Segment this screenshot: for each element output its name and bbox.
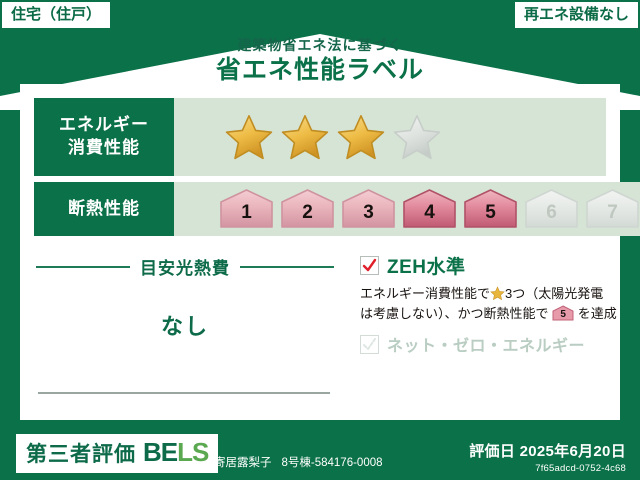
zeh-title-row: ZEH水準 bbox=[350, 252, 620, 279]
insulation-badge-value: 4 bbox=[401, 188, 458, 230]
insulation-badge-5: 5 bbox=[462, 188, 519, 230]
utility-cost-title: 目安光熱費 bbox=[130, 254, 240, 279]
insulation-performance-row: 断熱性能 1234567 bbox=[34, 182, 606, 236]
divider-right bbox=[240, 266, 334, 268]
evaluation-hash: 7f65adcd-0752-4c68 bbox=[469, 463, 626, 474]
star-filled-icon bbox=[336, 113, 386, 161]
insulation-badge-value: 3 bbox=[340, 188, 397, 230]
insulation-badge-value: 6 bbox=[523, 188, 580, 230]
check-icon bbox=[362, 258, 377, 273]
net-zero-energy-label: ネット・ゼロ・エネルギー bbox=[387, 332, 585, 356]
bels-logo: 第三者評価 BELS bbox=[16, 434, 218, 473]
insulation-badge-1: 1 bbox=[218, 188, 275, 230]
building-type-tag: 住宅（住戸） bbox=[2, 2, 110, 28]
insulation-badge-7: 7 bbox=[584, 188, 640, 230]
inline-star-icon bbox=[490, 286, 505, 301]
evaluation-date-block: 評価日 2025年6月20日 7f65adcd-0752-4c68 bbox=[469, 440, 626, 474]
insulation-badge-2: 2 bbox=[279, 188, 336, 230]
zeh-checkbox[interactable] bbox=[360, 256, 379, 275]
inline-level-value: 5 bbox=[552, 305, 574, 321]
star-filled-icon bbox=[280, 113, 330, 161]
utility-cost-heading: 目安光熱費 bbox=[20, 254, 350, 279]
lower-section: 目安光熱費 なし ZEH水準 エネルギー消費性能で bbox=[20, 244, 620, 420]
star-empty-icon bbox=[392, 113, 442, 161]
energy-performance-label: エネルギー 消費性能 bbox=[34, 98, 174, 176]
star-rating bbox=[174, 113, 442, 161]
owner-info: 寄居露梨子8号棟-584176-0008 bbox=[214, 454, 383, 470]
insulation-performance-value: 1234567 bbox=[174, 182, 640, 236]
net-zero-energy-row: ネット・ゼロ・エネルギー bbox=[350, 332, 620, 356]
utility-cost-value: なし bbox=[20, 309, 350, 341]
zeh-desc-part3: を達成 bbox=[578, 306, 617, 321]
main-panel: エネルギー 消費性能 断熱性能 1234567 目安光熱費 なし bbox=[20, 84, 620, 420]
net-zero-energy-checkbox[interactable] bbox=[360, 335, 379, 354]
insulation-badge-value: 7 bbox=[584, 188, 640, 230]
utility-cost-rule bbox=[38, 392, 330, 394]
third-party-eval-text: 第三者評価 bbox=[26, 438, 136, 468]
insulation-badge-value: 2 bbox=[279, 188, 336, 230]
footer: 第三者評価 BELS 寄居露梨子8号棟-584176-0008 評価日 2025… bbox=[0, 424, 640, 480]
bels-energy-label: 住宅（住戸） 再エネ設備なし 建築物省エネ法に基づく 省エネ性能ラベル エネルギ… bbox=[0, 0, 640, 480]
insulation-badge-3: 3 bbox=[340, 188, 397, 230]
zeh-desc-part2: は考慮しない）、かつ断熱性能で bbox=[360, 306, 549, 321]
energy-performance-value bbox=[174, 98, 606, 176]
renewable-energy-tag: 再エネ設備なし bbox=[515, 2, 638, 28]
insulation-badge-value: 5 bbox=[462, 188, 519, 230]
star-filled-icon bbox=[224, 113, 274, 161]
insulation-performance-label: 断熱性能 bbox=[34, 182, 174, 236]
divider-left bbox=[36, 266, 130, 268]
utility-cost-section: 目安光熱費 なし bbox=[20, 244, 350, 420]
check-icon-disabled bbox=[362, 337, 377, 352]
energy-performance-row: エネルギー 消費性能 bbox=[34, 98, 606, 176]
zeh-section: ZEH水準 エネルギー消費性能で 3つ（太陽光発電 は考慮しない）、かつ断熱性能… bbox=[350, 244, 620, 420]
insulation-badge-scale: 1234567 bbox=[174, 188, 640, 230]
zeh-description: エネルギー消費性能で 3つ（太陽光発電 は考慮しない）、かつ断熱性能で 5 を達… bbox=[350, 284, 620, 324]
zeh-desc-part1: エネルギー消費性能で bbox=[360, 286, 490, 301]
insulation-badge-4: 4 bbox=[401, 188, 458, 230]
insulation-badge-6: 6 bbox=[523, 188, 580, 230]
building-number: 8号棟-584176-0008 bbox=[282, 457, 383, 469]
evaluation-date: 評価日 2025年6月20日 bbox=[469, 440, 626, 461]
owner-name: 寄居露梨子 bbox=[214, 457, 272, 469]
inline-level-badge: 5 bbox=[552, 305, 574, 321]
insulation-badge-value: 1 bbox=[218, 188, 275, 230]
zeh-desc-stars: 3つ（太陽光発電 bbox=[505, 286, 603, 301]
bels-wordmark: BELS bbox=[143, 439, 208, 465]
zeh-title: ZEH水準 bbox=[387, 252, 466, 279]
